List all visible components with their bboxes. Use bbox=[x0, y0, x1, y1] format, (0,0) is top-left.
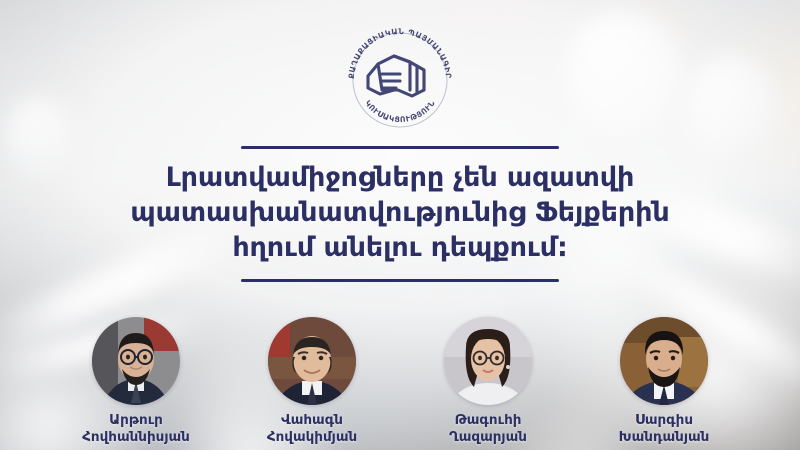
person-card: Վահագն Հովակիմյան bbox=[237, 317, 387, 446]
avatar bbox=[268, 317, 356, 405]
person-first-name: Արթուր bbox=[61, 412, 211, 429]
person-first-name: Սարգիս bbox=[589, 412, 739, 429]
person-last-name: Հովհաննիսյան bbox=[61, 429, 211, 446]
handshake-icon bbox=[368, 56, 424, 96]
person-first-name: Վահագն bbox=[237, 412, 387, 429]
person-name: Վահագն Հովակիմյան bbox=[237, 412, 387, 446]
person-last-name: Հովակիմյան bbox=[237, 429, 387, 446]
logo-arc-bottom-text: ԿՈՒՍԱԿՑՈՒԹՅՈՒՆ bbox=[363, 99, 437, 124]
person-name: Սարգիս Խանդանյան bbox=[589, 412, 739, 446]
person-name: Թագուհի Ղազարյան bbox=[413, 412, 563, 446]
avatar bbox=[620, 317, 708, 405]
divider-top bbox=[241, 146, 559, 149]
party-logo: ՔԱՂԱՔԱՑԻԱԿԱՆ ՊԱՅՄԱՆԱԳԻՐ ԿՈՒՍԱԿՑՈՒԹՅՈՒՆ bbox=[338, 18, 462, 128]
avatar bbox=[92, 317, 180, 405]
person-card: Թագուհի Ղազարյան bbox=[413, 317, 563, 446]
headline-line-1: Լրատվամիջոցները չեն ազատվի bbox=[28, 160, 772, 195]
headline-line-2: պատասխանատվությունից Ֆեյքերին bbox=[28, 195, 772, 230]
person-card: Արթուր Հովհաննիսյան bbox=[61, 317, 211, 446]
person-card: Սարգիս Խանդանյան bbox=[589, 317, 739, 446]
people-row: Արթուր Հովհաննիսյան bbox=[0, 317, 800, 446]
person-last-name: Խանդանյան bbox=[589, 429, 739, 446]
page-title: Լրատվամիջոցները չեն ազատվի պատասխանատվու… bbox=[0, 160, 800, 265]
headline-line-3: հղում անելու դեպքում: bbox=[28, 230, 772, 265]
person-name: Արթուր Հովհաննիսյան bbox=[61, 412, 211, 446]
announcement-card: ՔԱՂԱՔԱՑԻԱԿԱՆ ՊԱՅՄԱՆԱԳԻՐ ԿՈՒՍԱԿՑՈՒԹՅՈՒՆ Լ bbox=[0, 0, 800, 450]
avatar bbox=[444, 317, 532, 405]
divider-bottom bbox=[241, 279, 559, 282]
person-first-name: Թագուհի bbox=[413, 412, 563, 429]
person-last-name: Ղազարյան bbox=[413, 429, 563, 446]
